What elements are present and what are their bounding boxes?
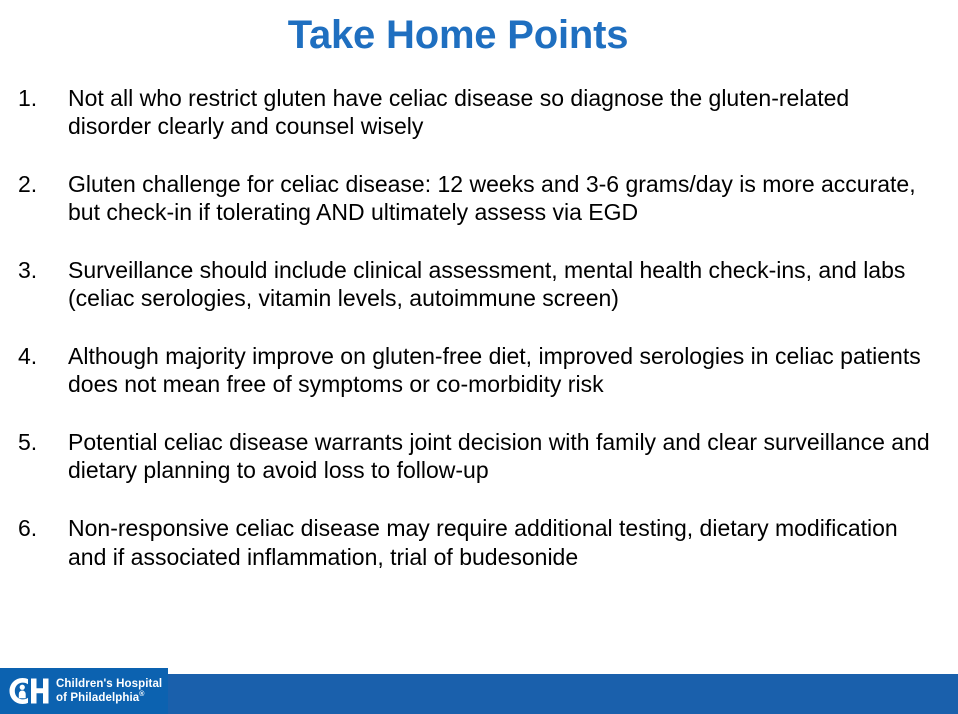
list-item-text: Gluten challenge for celiac disease: 12 …	[68, 170, 936, 226]
list-item: 5. Potential celiac disease warrants joi…	[0, 428, 958, 484]
list-item: 6. Non-responsive celiac disease may req…	[0, 514, 958, 570]
list-item: 4. Although majority improve on gluten-f…	[0, 342, 958, 398]
chop-wordmark: Children's Hospital of Philadelphia®	[56, 677, 162, 705]
chop-wordmark-line1: Children's Hospital	[56, 677, 162, 691]
registered-trademark-symbol: ®	[139, 691, 144, 698]
slide-canvas: Take Home Points 1. Not all who restrict…	[0, 0, 958, 714]
list-item-number: 3.	[18, 256, 68, 284]
footer-accent-band	[168, 674, 958, 714]
list-item: 2. Gluten challenge for celiac disease: …	[0, 170, 958, 226]
list-item-text: Non-responsive celiac disease may requir…	[68, 514, 936, 570]
list-item-number: 5.	[18, 428, 68, 456]
list-item-text: Surveillance should include clinical ass…	[68, 256, 936, 312]
list-item-number: 6.	[18, 514, 68, 542]
list-item-number: 1.	[18, 84, 68, 112]
take-home-points-list: 1. Not all who restrict gluten have celi…	[0, 84, 958, 601]
chop-wordmark-line2: of Philadelphia	[56, 692, 139, 704]
list-item: 3. Surveillance should include clinical …	[0, 256, 958, 312]
list-item: 1. Not all who restrict gluten have celi…	[0, 84, 958, 140]
list-item-text: Not all who restrict gluten have celiac …	[68, 84, 936, 140]
slide-footer: Children's Hospital of Philadelphia®	[0, 660, 958, 714]
list-item-number: 2.	[18, 170, 68, 198]
list-item-text: Although majority improve on gluten-free…	[68, 342, 936, 398]
list-item-number: 4.	[18, 342, 68, 370]
page-title: Take Home Points	[0, 14, 916, 56]
chop-wordmark-line2-wrap: of Philadelphia®	[56, 691, 162, 705]
list-item-text: Potential celiac disease warrants joint …	[68, 428, 936, 484]
chop-ch-monogram-icon	[8, 676, 50, 706]
chop-logo: Children's Hospital of Philadelphia®	[0, 668, 168, 714]
